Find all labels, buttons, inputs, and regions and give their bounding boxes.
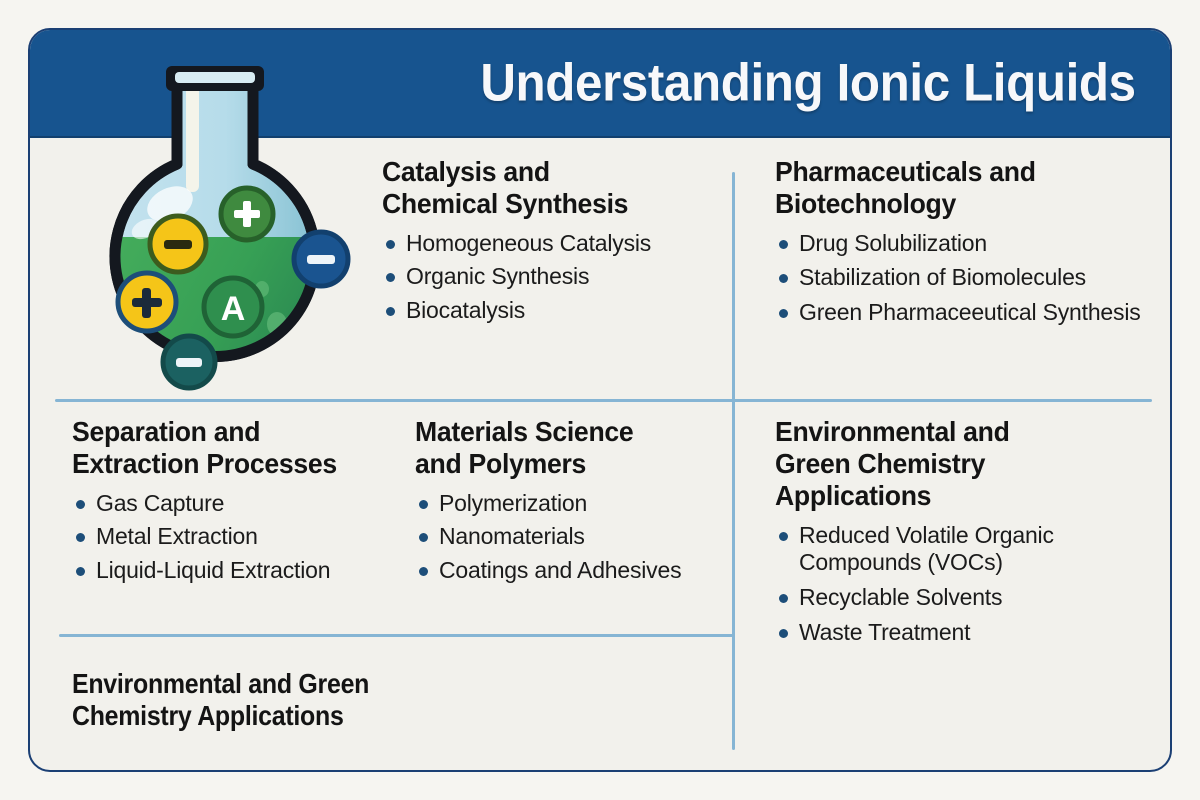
section-separation-heading-line2: Extraction Processes	[72, 448, 337, 480]
section-materials-heading-line1: Materials Science	[415, 416, 633, 448]
section-environmental-heading-line2: Green Chemistry	[775, 448, 985, 480]
list-item: Polymerization	[415, 490, 735, 518]
list-item-label: Liquid-Liquid Extraction	[96, 557, 330, 583]
section-catalysis-heading-line1: Catalysis and	[382, 156, 550, 188]
section-separation-heading: Separation and Extraction Processes	[72, 416, 412, 480]
section-materials-heading: Materials Science and Polymers	[415, 416, 735, 480]
list-item: Waste Treatment	[775, 619, 1165, 647]
section-environmental-list: Reduced Volatile Organic Compounds (VOCs…	[775, 522, 1165, 646]
section-catalysis-heading: Catalysis and Chemical Synthesis	[382, 156, 712, 220]
bullet-icon	[386, 307, 395, 316]
list-item-label: Coatings and Adhesives	[439, 557, 681, 583]
bullet-icon	[779, 594, 788, 603]
list-item-label: Green Pharmaceeutical Synthesis	[799, 299, 1141, 325]
section-environmental-bottom-heading-line1: Environmental and Green	[72, 668, 369, 700]
list-item: Gas Capture	[72, 490, 412, 518]
section-environmental-heading-line3: Applications	[775, 480, 931, 512]
bullet-icon	[779, 240, 788, 249]
bullet-icon	[779, 309, 788, 318]
section-pharmaceuticals-list: Drug Solubilization Stabilization of Bio…	[775, 230, 1165, 327]
section-environmental-heading-line1: Environmental and	[775, 416, 1010, 448]
infographic-card: Understanding Ionic Liquids	[28, 28, 1172, 772]
list-item-label: Stabilization of Biomolecules	[799, 264, 1086, 290]
section-pharmaceuticals: Pharmaceuticals and Biotechnology Drug S…	[775, 156, 1165, 334]
infographic-root: Understanding Ionic Liquids	[0, 0, 1200, 800]
ion-cation-yellow	[118, 273, 176, 331]
ion-anion-teal	[163, 336, 215, 388]
bullet-icon	[779, 274, 788, 283]
section-environmental: Environmental and Green Chemistry Applic…	[775, 416, 1165, 653]
list-item-label: Recyclable Solvents	[799, 584, 1002, 610]
list-item: Stabilization of Biomolecules	[775, 264, 1165, 292]
ion-anion-labeled-a: A	[204, 278, 262, 336]
section-materials-list: Polymerization Nanomaterials Coatings an…	[415, 490, 735, 585]
section-separation: Separation and Extraction Processes Gas …	[72, 416, 412, 591]
section-pharmaceuticals-heading-line2: Biotechnology	[775, 188, 956, 220]
list-item-label: Biocatalysis	[406, 297, 525, 323]
section-separation-list: Gas Capture Metal Extraction Liquid-Liqu…	[72, 490, 412, 585]
list-item-label: Metal Extraction	[96, 523, 258, 549]
section-environmental-bottom: Environmental and Green Chemistry Applic…	[72, 668, 712, 732]
bullet-icon	[779, 532, 788, 541]
bullet-icon	[386, 273, 395, 282]
section-catalysis-list: Homogeneous Catalysis Organic Synthesis …	[382, 230, 712, 325]
list-item: Nanomaterials	[415, 523, 735, 551]
svg-text:A: A	[221, 290, 246, 328]
list-item: Organic Synthesis	[382, 263, 712, 291]
list-item-label: Polymerization	[439, 490, 587, 516]
list-item: Green Pharmaceeutical Synthesis	[775, 299, 1165, 327]
list-item-label: Drug Solubilization	[799, 230, 987, 256]
bullet-icon	[76, 567, 85, 576]
list-item-label: Nanomaterials	[439, 523, 585, 549]
bullet-icon	[76, 533, 85, 542]
list-item: Reduced Volatile Organic Compounds (VOCs…	[775, 522, 1165, 577]
section-environmental-bottom-heading-line2: Chemistry Applications	[72, 700, 344, 732]
bullet-icon	[419, 567, 428, 576]
bullet-icon	[779, 629, 788, 638]
page-title-text: Understanding Ionic Liquids	[481, 53, 1136, 114]
page-title: Understanding Ionic Liquids	[431, 53, 1136, 114]
ion-cation-green	[221, 188, 273, 240]
bullet-icon	[76, 500, 85, 509]
ion-anion-blue	[294, 232, 348, 286]
section-environmental-bottom-heading: Environmental and Green Chemistry Applic…	[72, 668, 712, 732]
section-materials-heading-line2: and Polymers	[415, 448, 586, 480]
list-item: Drug Solubilization	[775, 230, 1165, 258]
list-item: Homogeneous Catalysis	[382, 230, 712, 258]
flask-liquid	[105, 237, 325, 394]
list-item-label: Waste Treatment	[799, 619, 970, 645]
list-item-label: Gas Capture	[96, 490, 224, 516]
divider-horizontal-main	[55, 399, 1152, 402]
section-separation-heading-line1: Separation and	[72, 416, 260, 448]
list-item: Recyclable Solvents	[775, 584, 1165, 612]
bullet-icon	[386, 240, 395, 249]
section-materials: Materials Science and Polymers Polymeriz…	[415, 416, 735, 591]
section-catalysis: Catalysis and Chemical Synthesis Homogen…	[382, 156, 712, 331]
divider-horizontal-secondary	[59, 634, 733, 637]
list-item-label: Reduced Volatile Organic Compounds (VOCs…	[799, 522, 1054, 576]
list-item-label: Homogeneous Catalysis	[406, 230, 651, 256]
list-item: Liquid-Liquid Extraction	[72, 557, 412, 585]
section-catalysis-heading-line2: Chemical Synthesis	[382, 188, 628, 220]
ion-anion-yellow	[150, 216, 206, 272]
list-item: Biocatalysis	[382, 297, 712, 325]
list-item: Metal Extraction	[72, 523, 412, 551]
header-banner: Understanding Ionic Liquids	[30, 30, 1170, 138]
section-pharmaceuticals-heading-line1: Pharmaceuticals and	[775, 156, 1036, 188]
bullet-icon	[419, 533, 428, 542]
bullet-icon	[419, 500, 428, 509]
list-item: Coatings and Adhesives	[415, 557, 735, 585]
section-pharmaceuticals-heading: Pharmaceuticals and Biotechnology	[775, 156, 1165, 220]
list-item-label: Organic Synthesis	[406, 263, 589, 289]
section-environmental-heading: Environmental and Green Chemistry Applic…	[775, 416, 1165, 512]
